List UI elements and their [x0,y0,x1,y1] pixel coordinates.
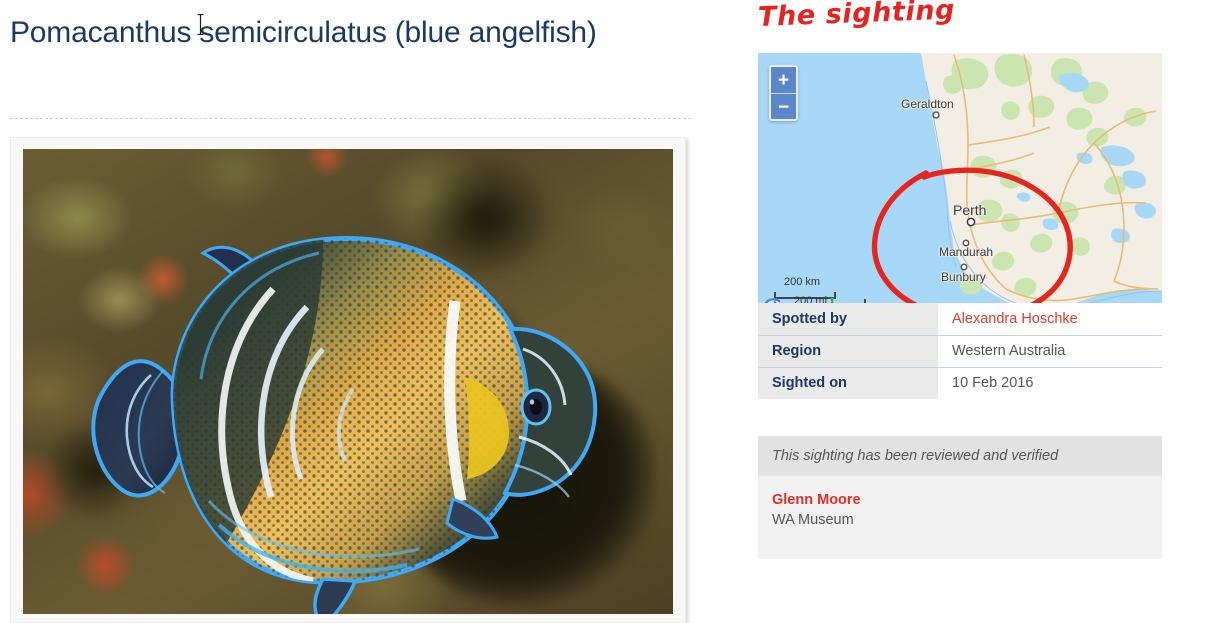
verification-status: This sighting has been reviewed and veri… [758,436,1162,476]
sighting-heading: The sighting [757,0,955,33]
map-label-mandurah: Mandurah [939,245,993,259]
spotter-link[interactable]: Alexandra Hoschke [952,311,1078,327]
detail-value-sighted-on: 10 Feb 2016 [938,367,1162,399]
scale-metric-label: 200 km [784,276,820,288]
verification-panel: This sighting has been reviewed and veri… [758,436,1162,559]
page-root: Pomacanthus semicirculatus (blue angelfi… [0,0,1211,623]
table-row: Region Western Australia [758,335,1162,367]
sighting-photo[interactable] [23,149,673,614]
table-row: Spotted by Alexandra Hoschke [758,303,1162,335]
content-column: Pomacanthus semicirculatus (blue angelfi… [0,0,700,623]
map-canvas [758,53,1162,330]
page-title: Pomacanthus semicirculatus (blue angelfi… [10,8,630,57]
zoom-out-button[interactable]: − [771,94,796,120]
angelfish-illustration [23,149,673,614]
verifier-organisation: WA Museum [772,510,1162,531]
sighting-sidebar: The sighting [758,0,1162,623]
sighting-map[interactable]: Geraldton Perth Mandurah Bunbury + − 200… [758,53,1162,330]
photo-frame [10,137,686,623]
map-label-perth: Perth [953,202,986,218]
map-label-bunbury: Bunbury [941,270,986,284]
title-separator [10,118,691,119]
map-label-geraldton: Geraldton [901,97,954,111]
map-zoom-control[interactable]: + − [769,65,798,121]
table-row: Sighted on 10 Feb 2016 [758,367,1162,399]
verification-body: Glenn Moore WA Museum [758,476,1162,559]
detail-label-region: Region [758,335,938,367]
sighting-details-table: Spotted by Alexandra Hoschke Region West… [758,303,1162,399]
detail-value-spotted-by: Alexandra Hoschke [938,303,1162,335]
verifier-name-link[interactable]: Glenn Moore [772,490,1162,510]
detail-value-region: Western Australia [938,335,1162,367]
detail-label-sighted-on: Sighted on [758,367,938,399]
detail-label-spotted-by: Spotted by [758,303,938,335]
zoom-in-button[interactable]: + [771,67,796,94]
